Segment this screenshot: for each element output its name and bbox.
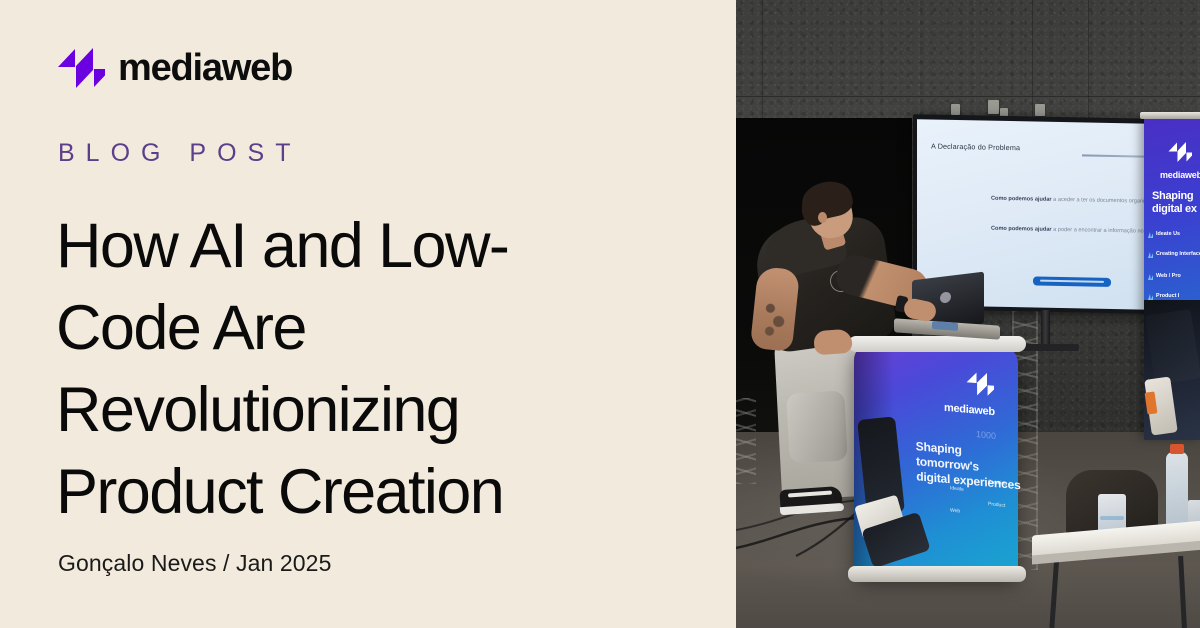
blog-post-social-card: mediaweb BLOG POST How AI and Low- Code …: [0, 0, 1200, 628]
post-category-eyebrow: BLOG POST: [58, 141, 301, 166]
person-left-hand: [813, 329, 853, 356]
wall-seam: [1088, 0, 1089, 120]
rollup-mediaweb-logo-icon: [1168, 140, 1192, 164]
podium-faint-label: 1000: [976, 429, 996, 441]
rollup-tagline-line-1: Shaping: [1152, 190, 1193, 202]
podium-tagline-line-1: Shaping tomorrow's: [916, 439, 979, 473]
brand-logo[interactable]: mediaweb: [57, 44, 292, 92]
rollup-bullet: Product I: [1156, 293, 1179, 299]
slide-title: A Declaração do Problema: [931, 142, 1020, 153]
slide-bullet: Como podemos ajudar a aceder a ter os do…: [991, 195, 1159, 207]
rollup-bullet: Web / Pro: [1156, 273, 1181, 279]
laptop-trackpad: [932, 321, 958, 331]
podium-bullet: Web: [950, 507, 960, 514]
person-ear: [818, 212, 827, 223]
title-line-1: How AI and Low-: [56, 211, 508, 281]
rollup-wordmark: mediaweb: [1160, 170, 1200, 180]
slide-cta-button: [1033, 276, 1111, 286]
author-date-byline: Gonçalo Neves / Jan 2025: [58, 550, 331, 577]
rollup-tagline-line-2: digital ex: [1152, 203, 1197, 215]
rollup-bullet: Ideate Us: [1156, 231, 1180, 237]
rollup-tablet-graphic: [1145, 309, 1200, 385]
brand-wordmark: mediaweb: [118, 49, 292, 87]
cup-print: [1100, 516, 1124, 520]
title-line-4: Product Creation: [56, 457, 503, 527]
title-line-3: Revolutionizing: [56, 375, 459, 445]
title-line-2: Code Are: [56, 293, 306, 363]
mediaweb-lightning-logo-icon: [57, 44, 105, 92]
speaker-box: [988, 100, 999, 114]
podium-base: [848, 566, 1026, 582]
content-panel: mediaweb BLOG POST How AI and Low- Code …: [0, 0, 736, 628]
page-title: How AI and Low- Code Are Revolutionizing…: [56, 205, 656, 533]
jeans-fold: [786, 391, 848, 464]
display-stand: [1041, 310, 1050, 346]
wall-seam: [1032, 0, 1033, 120]
speaker-box: [1035, 104, 1045, 116]
stage-truss: [736, 398, 756, 484]
wall-seam: [736, 96, 1200, 97]
podium-mediaweb-logo-icon: [966, 369, 994, 399]
event-photo: A Declaração do Problema Como podemos aj…: [736, 0, 1200, 628]
rollup-banner-cap: [1140, 112, 1200, 119]
bottle-cap: [1170, 444, 1184, 454]
rollup-bullet: Creating Interfaces: [1156, 251, 1200, 257]
rollup-tagline: Shaping digital ex: [1152, 190, 1200, 216]
speaker-box: [951, 104, 960, 115]
